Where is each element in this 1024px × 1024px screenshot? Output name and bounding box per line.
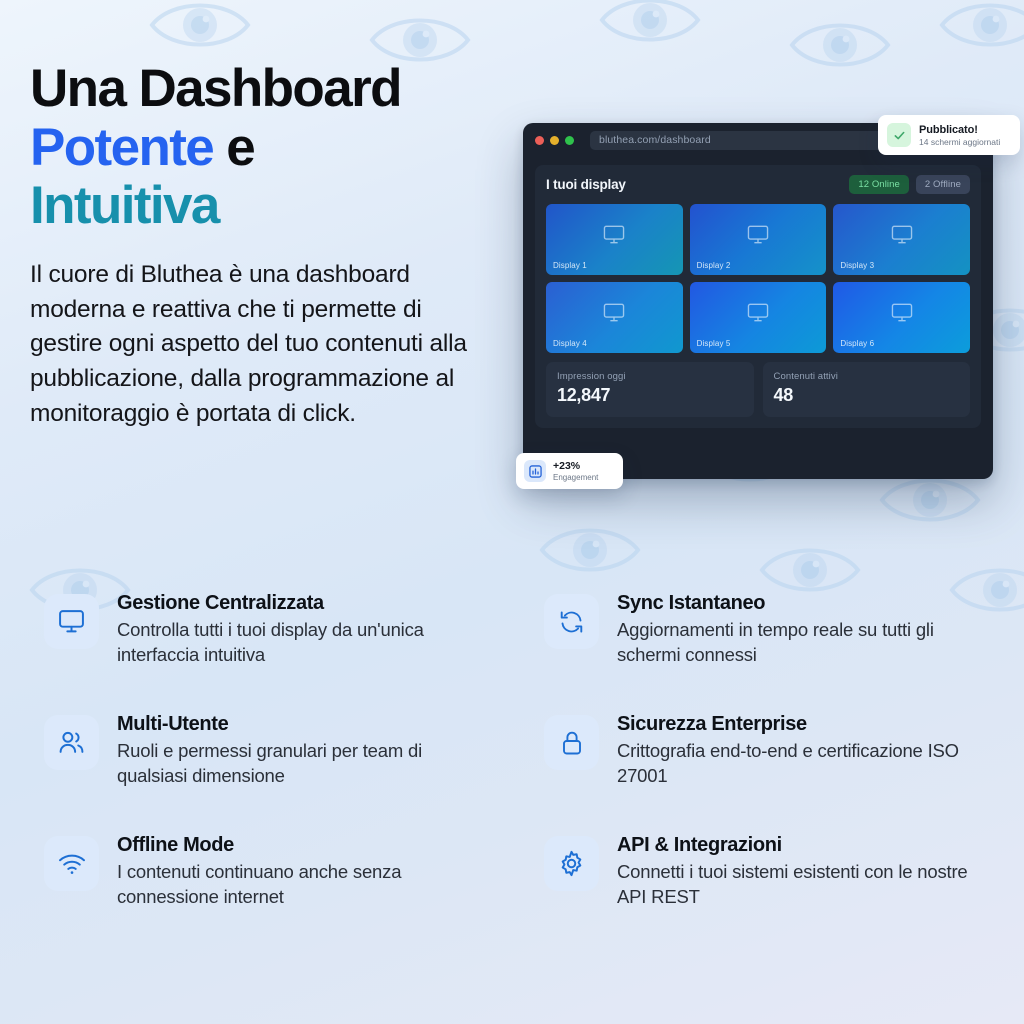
- stat-label: Impression oggi: [557, 371, 743, 382]
- display-card-label: Display 5: [697, 339, 731, 348]
- dashboard-panel-header: I tuoi display 12 Online 2 Offline: [546, 175, 970, 194]
- dashboard-panel: I tuoi display 12 Online 2 Offline Displ…: [535, 165, 981, 428]
- feature-text: API & Integrazioni Connetti i tuoi siste…: [617, 834, 992, 909]
- feature-title: Offline Mode: [117, 834, 492, 857]
- monitor-icon: [747, 303, 769, 323]
- feature-title: Multi-Utente: [117, 713, 492, 736]
- toast-subtitle: 14 schermi aggiornati: [919, 137, 1000, 147]
- status-badge-online: 12 Online: [849, 175, 909, 194]
- check-icon: [887, 123, 911, 147]
- feature-text: Sicurezza Enterprise Crittografia end-to…: [617, 713, 992, 788]
- display-card-label: Display 4: [553, 339, 587, 348]
- hero-accent-potente: Potente: [30, 118, 213, 177]
- display-card-label: Display 1: [553, 261, 587, 270]
- feature-description: Ruoli e permessi granulari per team di q…: [117, 739, 492, 788]
- hero-heading-line-2: Potente e: [30, 121, 510, 176]
- stat-value: 48: [774, 385, 960, 406]
- toast-text: Pubblicato! 14 schermi aggiornati: [919, 124, 1000, 147]
- hero-paragraph: Il cuore di Bluthea è una dashboard mode…: [30, 258, 500, 432]
- toast-published: Pubblicato! 14 schermi aggiornati: [878, 115, 1020, 155]
- feature-text: Multi-Utente Ruoli e permessi granulari …: [117, 713, 492, 788]
- display-card-label: Display 3: [840, 261, 874, 270]
- monitor-icon: [747, 225, 769, 245]
- monitor-icon: [891, 225, 913, 245]
- feature-item-offline-mode: Offline Mode I contenuti continuano anch…: [44, 834, 492, 909]
- status-badge-offline: 2 Offline: [916, 175, 970, 194]
- feature-grid: Gestione Centralizzata Controlla tutti i…: [44, 592, 992, 910]
- stat-label: Contenuti attivi: [774, 371, 960, 382]
- feature-title: Sync Istantaneo: [617, 592, 992, 615]
- minimize-traffic-light-icon[interactable]: [550, 136, 559, 145]
- dashboard-panel-title: I tuoi display: [546, 177, 626, 192]
- sync-icon: [544, 594, 599, 649]
- hero-section: Una Dashboard Potente e Intuitiva Il cuo…: [30, 62, 510, 432]
- status-badge-group: 12 Online 2 Offline: [849, 175, 970, 194]
- stat-value: 12,847: [557, 385, 743, 406]
- url-text: bluthea.com/dashboard: [599, 134, 711, 146]
- engagement-chip-subtitle: Engagement: [553, 473, 598, 482]
- display-card-label: Display 6: [840, 339, 874, 348]
- display-card[interactable]: Display 5: [690, 282, 827, 353]
- feature-description: Controlla tutti i tuoi display da un'uni…: [117, 618, 492, 667]
- feature-description: I contenuti continuano anche senza conne…: [117, 860, 492, 909]
- hero-heading-line-1: Una Dashboard: [30, 62, 510, 117]
- display-card[interactable]: Display 4: [546, 282, 683, 353]
- wifi-icon: [44, 836, 99, 891]
- feature-title: Sicurezza Enterprise: [617, 713, 992, 736]
- feature-item-sicurezza-enterprise: Sicurezza Enterprise Crittografia end-to…: [544, 713, 992, 788]
- hero-heading-line-2-rest: e: [213, 118, 254, 177]
- gear-icon: [544, 836, 599, 891]
- stats-row: Impression oggi 12,847 Contenuti attivi …: [546, 362, 970, 417]
- close-traffic-light-icon[interactable]: [535, 136, 544, 145]
- display-card[interactable]: Display 6: [833, 282, 970, 353]
- feature-description: Crittografia end-to-end e certificazione…: [617, 739, 992, 788]
- browser-mockup: bluthea.com/dashboard I tuoi display 12 …: [523, 123, 993, 479]
- feature-description: Aggiornamenti in tempo reale su tutti gl…: [617, 618, 992, 667]
- lock-icon: [544, 715, 599, 770]
- monitor-icon: [891, 303, 913, 323]
- feature-description: Connetti i tuoi sistemi esistenti con le…: [617, 860, 992, 909]
- monitor-icon: [44, 594, 99, 649]
- feature-text: Offline Mode I contenuti continuano anch…: [117, 834, 492, 909]
- feature-text: Gestione Centralizzata Controlla tutti i…: [117, 592, 492, 667]
- feature-item-api-integrazioni: API & Integrazioni Connetti i tuoi siste…: [544, 834, 992, 909]
- maximize-traffic-light-icon[interactable]: [565, 136, 574, 145]
- toast-title: Pubblicato!: [919, 124, 1000, 136]
- stat-card-active-content: Contenuti attivi 48: [763, 362, 971, 417]
- monitor-icon: [603, 303, 625, 323]
- display-card-label: Display 2: [697, 261, 731, 270]
- feature-item-gestione-centralizzata: Gestione Centralizzata Controlla tutti i…: [44, 592, 492, 667]
- display-card-grid: Display 1 Display 2 Display 3 Display 4 …: [546, 204, 970, 353]
- monitor-icon: [603, 225, 625, 245]
- bar-chart-icon: [524, 460, 546, 482]
- engagement-chip-text: +23% Engagement: [553, 460, 598, 482]
- display-card[interactable]: Display 3: [833, 204, 970, 275]
- display-card[interactable]: Display 1: [546, 204, 683, 275]
- users-icon: [44, 715, 99, 770]
- feature-item-multi-utente: Multi-Utente Ruoli e permessi granulari …: [44, 713, 492, 788]
- display-card[interactable]: Display 2: [690, 204, 827, 275]
- feature-title: API & Integrazioni: [617, 834, 992, 857]
- feature-text: Sync Istantaneo Aggiornamenti in tempo r…: [617, 592, 992, 667]
- engagement-chip-title: +23%: [553, 460, 598, 472]
- stat-card-impressions: Impression oggi 12,847: [546, 362, 754, 417]
- feature-item-sync-istantaneo: Sync Istantaneo Aggiornamenti in tempo r…: [544, 592, 992, 667]
- browser-viewport: I tuoi display 12 Online 2 Offline Displ…: [523, 157, 993, 440]
- engagement-chip: +23% Engagement: [516, 453, 623, 489]
- feature-title: Gestione Centralizzata: [117, 592, 492, 615]
- hero-heading-line-3: Intuitiva: [30, 179, 510, 234]
